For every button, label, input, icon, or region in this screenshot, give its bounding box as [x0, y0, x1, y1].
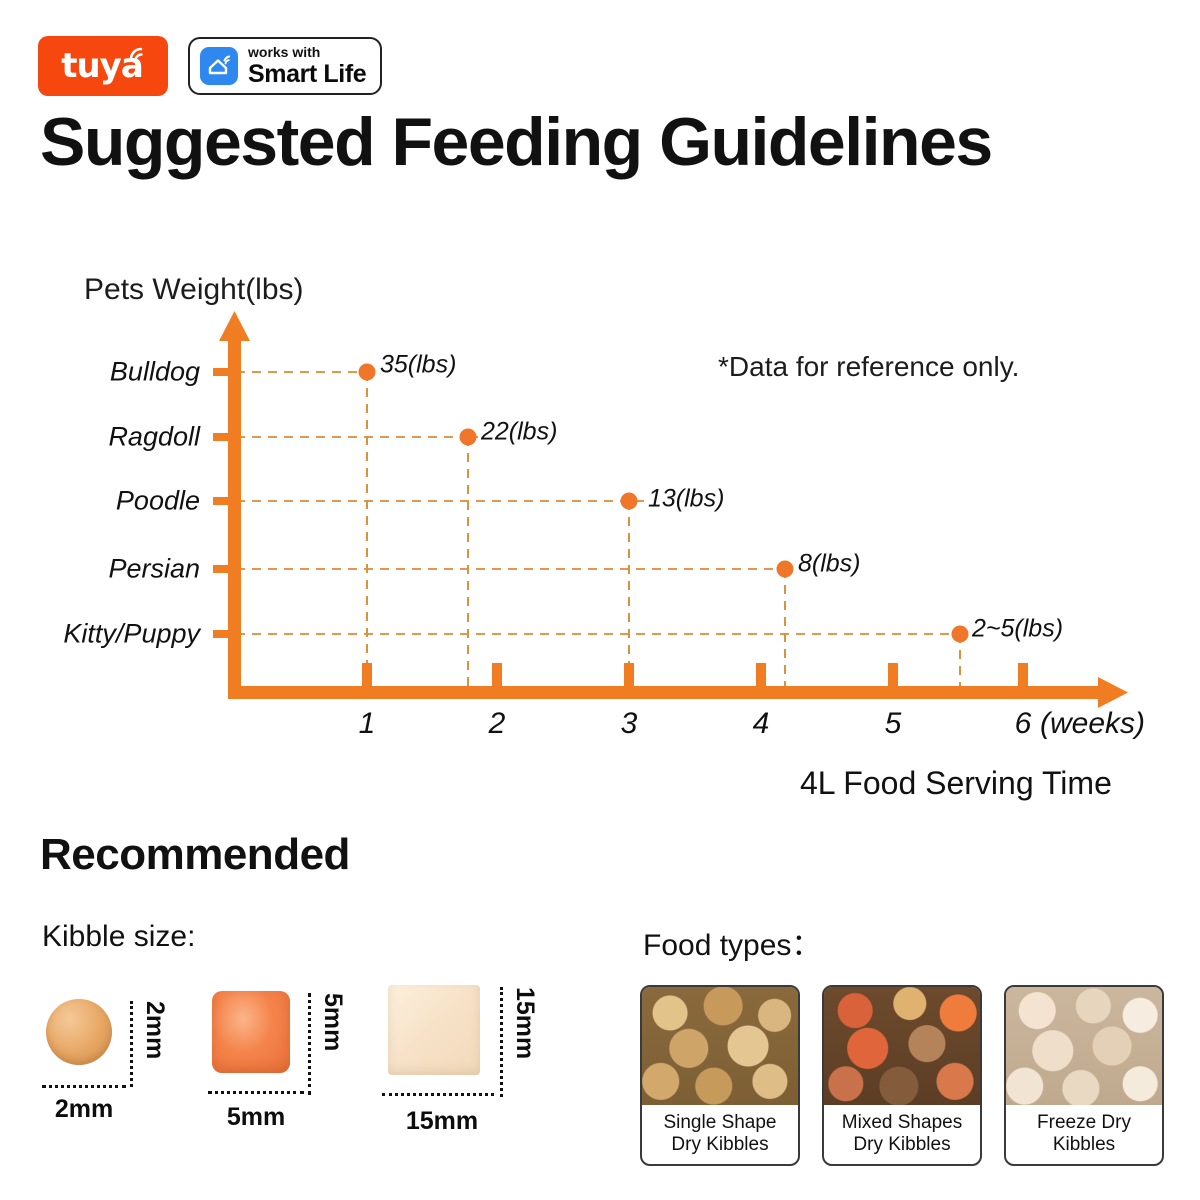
smart-life-home-icon	[200, 47, 238, 85]
page-title: Suggested Feeding Guidelines	[40, 108, 992, 176]
works-with-label: works with	[248, 45, 366, 59]
value-label-poodle: 13(lbs)	[648, 485, 724, 514]
y-label-kitty-puppy: Kitty/Puppy	[0, 619, 200, 650]
grid-horizontal	[236, 372, 972, 634]
y-label-poodle: Poodle	[0, 486, 200, 517]
data-point-bulldog	[359, 364, 376, 381]
x-axis-unit-label: (weeks)	[1040, 707, 1145, 741]
data-point-kitty-puppy	[952, 626, 969, 643]
square-kibble-icon	[212, 991, 290, 1073]
kibble-2mm-height-guide	[130, 1001, 133, 1087]
x-tick-1: 1	[359, 707, 376, 741]
grid-vertical	[367, 372, 960, 687]
kibble-5mm-width-label: 5mm	[227, 1103, 285, 1132]
tuya-logo: tuya	[38, 36, 168, 96]
kibble-5mm-height-label: 5mm	[318, 993, 347, 1051]
x-tick-4: 4	[753, 707, 770, 741]
reference-note: *Data for reference only.	[718, 351, 1019, 383]
food-type-caption-line2: Dry Kibbles	[671, 1134, 768, 1155]
kibble-2mm: 2mm 2mm	[46, 999, 206, 1149]
kibble-15mm-width-label: 15mm	[406, 1107, 478, 1136]
x-tick-3: 3	[621, 707, 638, 741]
works-with-smart-life-badge: works with Smart Life	[188, 37, 382, 95]
y-label-persian: Persian	[0, 554, 200, 585]
kibble-15mm-width-guide	[382, 1093, 494, 1096]
feeding-guidelines-page: tuya works with Smart Life Suggested Fee…	[0, 0, 1200, 1200]
food-type-card-mixed-shapes[interactable]: Mixed Shapes Dry Kibbles	[822, 985, 982, 1166]
freeze-dry-kibbles-image	[1006, 987, 1162, 1105]
data-point-persian	[777, 561, 794, 578]
x-tick-2: 2	[489, 707, 506, 741]
x-tick-5: 5	[885, 707, 902, 741]
brand-badges: tuya works with Smart Life	[38, 36, 382, 96]
x-tick-6: 6	[1015, 707, 1032, 741]
kibble-15mm: 15mm 15mm	[388, 985, 598, 1155]
mixed-shapes-kibbles-image	[824, 987, 980, 1105]
food-type-caption: Freeze Dry Kibbles	[1006, 1105, 1162, 1164]
food-type-caption-line1: Mixed Shapes	[842, 1112, 962, 1133]
smart-life-text: works with Smart Life	[248, 45, 366, 87]
food-type-caption: Single Shape Dry Kibbles	[642, 1105, 798, 1164]
value-label-kitty-puppy: 2~5(lbs)	[972, 615, 1063, 644]
feeding-chart: Pets Weight(lbs)	[0, 255, 1200, 815]
value-label-persian: 8(lbs)	[798, 550, 861, 579]
x-axis-title: 4L Food Serving Time	[800, 765, 1112, 802]
kibble-2mm-height-label: 2mm	[140, 1001, 169, 1059]
recommended-heading: Recommended	[40, 830, 350, 880]
food-type-card-freeze-dry[interactable]: Freeze Dry Kibbles	[1004, 985, 1164, 1166]
kibble-2mm-width-guide	[42, 1085, 126, 1088]
data-point-ragdoll	[460, 429, 477, 446]
tuya-wifi-icon	[128, 46, 150, 66]
food-type-caption-line2: Dry Kibbles	[853, 1134, 950, 1155]
food-type-caption-line1: Single Shape	[663, 1112, 776, 1133]
kibble-5mm-width-guide	[208, 1091, 304, 1094]
round-kibble-icon	[46, 999, 112, 1065]
y-label-ragdoll: Ragdoll	[0, 422, 200, 453]
food-type-caption-line1: Freeze Dry	[1037, 1112, 1131, 1133]
smart-life-label: Smart Life	[248, 62, 366, 87]
food-type-caption: Mixed Shapes Dry Kibbles	[824, 1105, 980, 1164]
kibble-15mm-height-label: 15mm	[510, 987, 539, 1059]
single-shape-kibbles-image	[642, 987, 798, 1105]
food-type-card-single-shape[interactable]: Single Shape Dry Kibbles	[640, 985, 800, 1166]
kibble-2mm-width-label: 2mm	[55, 1095, 113, 1124]
x-axis-ticks	[362, 663, 1028, 689]
kibble-5mm-height-guide	[308, 993, 311, 1095]
food-type-caption-line2: Kibbles	[1053, 1134, 1115, 1155]
value-label-bulldog: 35(lbs)	[380, 351, 456, 380]
value-label-ragdoll: 22(lbs)	[481, 418, 557, 447]
kibble-size-heading: Kibble size:	[42, 920, 195, 954]
food-types-heading: Food types：	[643, 920, 821, 964]
kibble-15mm-height-guide	[500, 987, 503, 1097]
kibble-size-group: 2mm 2mm 5mm 5mm 15mm 15mm	[40, 985, 600, 1145]
freeze-dry-kibble-icon	[388, 985, 480, 1075]
food-types-group: Single Shape Dry Kibbles Mixed Shapes Dr…	[640, 985, 1164, 1166]
data-point-poodle	[621, 493, 638, 510]
y-label-bulldog: Bulldog	[0, 357, 200, 388]
kibble-5mm: 5mm 5mm	[212, 991, 392, 1151]
